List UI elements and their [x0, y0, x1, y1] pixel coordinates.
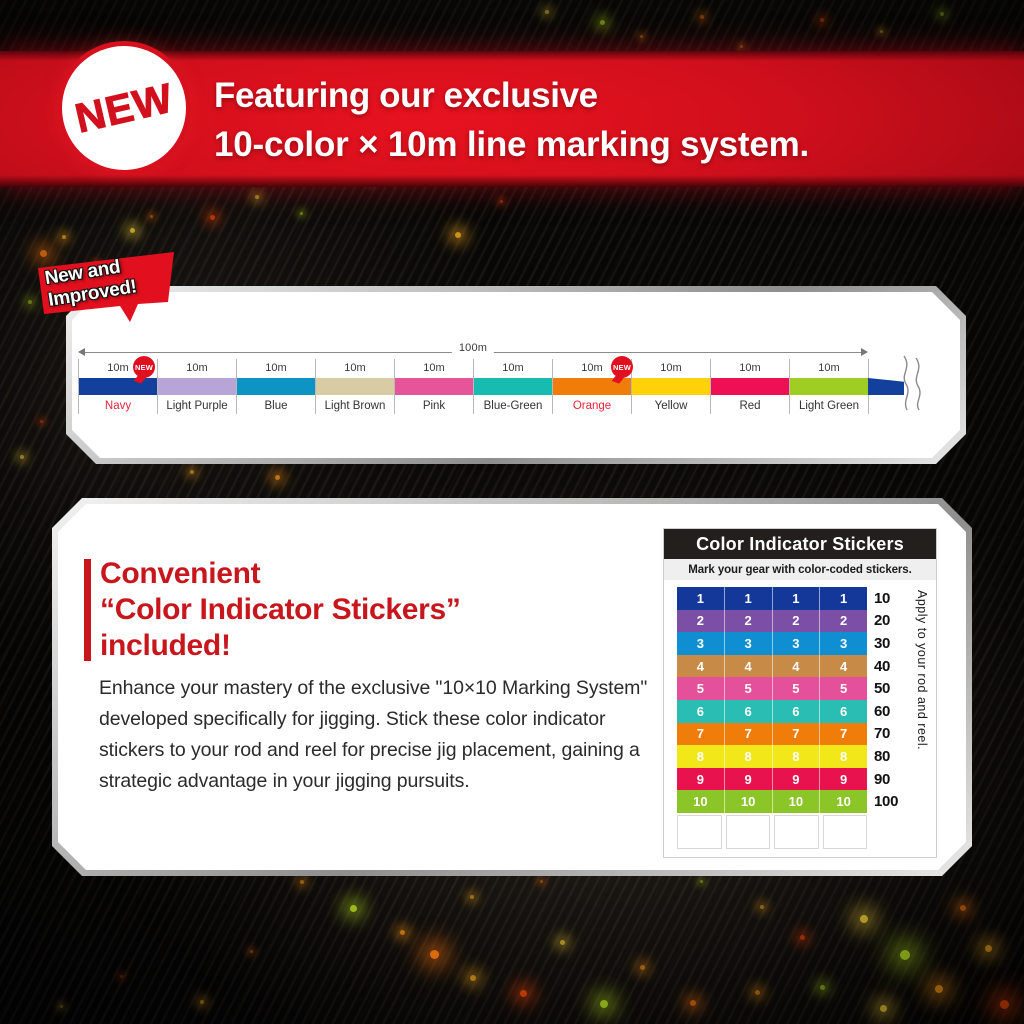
- poster-canvas: Featuring our exclusive 10-color × 10m l…: [0, 0, 1024, 1024]
- sticker-cell: 1: [725, 587, 773, 610]
- sticker-cell: 7: [677, 723, 725, 746]
- sticker-cell: 4: [725, 655, 773, 678]
- sticker-cell: 2: [725, 610, 773, 633]
- headline-line3: included!: [100, 628, 660, 664]
- line-wave-icon: [896, 354, 930, 412]
- sticker-cell: 2: [677, 610, 725, 633]
- sticker-cell: 8: [725, 745, 773, 768]
- line-segment: 10mPink: [394, 359, 473, 414]
- segment-length: 10m: [158, 359, 236, 378]
- sticker-cell: 10: [773, 790, 821, 813]
- segment-name: Orange: [553, 395, 631, 414]
- segment-length: 10m: [395, 359, 473, 378]
- sticker-cell: 3: [677, 632, 725, 655]
- color-indicator-stickers-card: Color Indicator Stickers Mark your gear …: [663, 528, 937, 858]
- dimension-arrow-right-icon: [861, 348, 868, 356]
- stickers-grid: 1111222233334444555566667777888899991010…: [677, 587, 867, 813]
- sticker-blank-cell: [774, 815, 819, 849]
- sticker-cell: 3: [820, 632, 867, 655]
- segment-color-bar: [237, 378, 315, 395]
- sticker-cell: 1: [820, 587, 867, 610]
- sticker-blank-cell: [677, 815, 722, 849]
- sticker-scale-value: 60: [874, 700, 913, 723]
- line-segment: 10mRed: [710, 359, 789, 414]
- sticker-cell: 7: [773, 723, 821, 746]
- segment-name: Blue-Green: [474, 395, 552, 414]
- segment-name: Light Brown: [316, 395, 394, 414]
- line-segment: 10mLight Green: [789, 359, 868, 414]
- line-segment: 10mNEWNavy: [78, 359, 157, 414]
- sticker-cell: 10: [725, 790, 773, 813]
- line-segment: 10mLight Brown: [315, 359, 394, 414]
- segment-color-bar: [711, 378, 789, 395]
- sticker-row: 10101010: [677, 790, 867, 813]
- segment-color-bar: [79, 378, 157, 395]
- sticker-cell: 4: [820, 655, 867, 678]
- line-segment: 10mBlue-Green: [473, 359, 552, 414]
- sticker-row: 9999: [677, 768, 867, 791]
- segment-color-bar: [395, 378, 473, 395]
- sticker-scale-value: 70: [874, 723, 913, 746]
- sticker-row: 4444: [677, 655, 867, 678]
- segment-name: Light Purple: [158, 395, 236, 414]
- sticker-row: 7777: [677, 723, 867, 746]
- segment-color-bar: [632, 378, 710, 395]
- new-badge-circle: NEW: [62, 46, 186, 170]
- total-length-label: 100m: [452, 342, 494, 354]
- segment-color-bar: [158, 378, 236, 395]
- headline-accent-bar: [84, 559, 91, 661]
- sticker-row: 3333: [677, 632, 867, 655]
- segment-color-bar: [316, 378, 394, 395]
- segment-length: 10mNEW: [553, 359, 631, 378]
- sticker-cell: 4: [677, 655, 725, 678]
- line-segment: 10mBlue: [236, 359, 315, 414]
- segment-color-bar: [790, 378, 868, 395]
- headline-line1: Convenient: [100, 556, 660, 592]
- banner-bottom-shade: [0, 175, 1024, 187]
- sticker-cell: 9: [725, 768, 773, 791]
- segment-color-bar: [474, 378, 552, 395]
- sticker-scale-value: 10: [874, 587, 913, 610]
- segment-length: 10mNEW: [79, 359, 157, 378]
- sticker-cell: 10: [820, 790, 867, 813]
- info-headline: Convenient “Color Indicator Stickers” in…: [100, 556, 660, 664]
- banner-headline-line2: 10-color × 10m line marking system.: [214, 120, 809, 169]
- line-marking-diagram: 100m 10mNEWNavy10mLight Purple10mBlue10m…: [78, 346, 950, 416]
- sticker-cell: 1: [677, 587, 725, 610]
- sticker-scale-value: 30: [874, 632, 913, 655]
- sticker-cell: 6: [677, 700, 725, 723]
- segment-length: 10m: [237, 359, 315, 378]
- line-segment: 10mLight Purple: [157, 359, 236, 414]
- segment-name: Red: [711, 395, 789, 414]
- sticker-cell: 6: [773, 700, 821, 723]
- sticker-cell: 9: [820, 768, 867, 791]
- sticker-row: 8888: [677, 745, 867, 768]
- sticker-cell: 5: [773, 677, 821, 700]
- dimension-arrow-left-icon: [78, 348, 85, 356]
- segment-length: 10m: [790, 359, 868, 378]
- sticker-scale-value: 20: [874, 610, 913, 633]
- new-and-improved-flag: New and Improved!: [34, 252, 180, 322]
- stickers-subtitle: Mark your gear with color-coded stickers…: [664, 559, 936, 580]
- sticker-cell: 4: [773, 655, 821, 678]
- line-segment: 10mYellow: [631, 359, 710, 414]
- sticker-cell: 8: [773, 745, 821, 768]
- sticker-cell: 2: [773, 610, 821, 633]
- sticker-cell: 5: [677, 677, 725, 700]
- sticker-cell: 7: [820, 723, 867, 746]
- sticker-scale-value: 40: [874, 655, 913, 678]
- new-badge-label: NEW: [71, 74, 178, 142]
- sticker-cell: 1: [773, 587, 821, 610]
- sticker-row: 1111: [677, 587, 867, 610]
- sticker-cell: 7: [725, 723, 773, 746]
- sticker-blank-cell: [823, 815, 868, 849]
- segment-name: Light Green: [790, 395, 868, 414]
- sticker-cell: 9: [773, 768, 821, 791]
- sticker-cell: 3: [773, 632, 821, 655]
- segment-name: Yellow: [632, 395, 710, 414]
- sticker-scale-value: 90: [874, 768, 913, 791]
- sticker-scale-value: 50: [874, 677, 913, 700]
- segment-name: Pink: [395, 395, 473, 414]
- stickers-side-note: Apply to your rod and reel.: [915, 590, 929, 790]
- sticker-cell: 2: [820, 610, 867, 633]
- segment-name: Blue: [237, 395, 315, 414]
- segment-length: 10m: [316, 359, 394, 378]
- sticker-cell: 10: [677, 790, 725, 813]
- banner-headline: Featuring our exclusive 10-color × 10m l…: [214, 71, 809, 169]
- segment-length: 10m: [711, 359, 789, 378]
- sticker-cell: 5: [820, 677, 867, 700]
- segment-new-badge: NEW: [611, 356, 633, 378]
- line-segment: 10mNEWOrange: [552, 359, 631, 414]
- segment-length: 10m: [474, 359, 552, 378]
- sticker-row: 5555: [677, 677, 867, 700]
- info-body-text: Enhance your mastery of the exclusive "1…: [99, 673, 659, 797]
- stickers-scale-column: 102030405060708090100: [867, 587, 913, 813]
- sticker-cell: 5: [725, 677, 773, 700]
- sticker-cell: 9: [677, 768, 725, 791]
- sticker-blank-cell: [726, 815, 771, 849]
- sticker-cell: 6: [820, 700, 867, 723]
- sticker-cell: 3: [725, 632, 773, 655]
- segment-new-badge: NEW: [133, 356, 155, 378]
- total-length-dimension: 100m: [78, 346, 868, 359]
- banner-headline-line1: Featuring our exclusive: [214, 71, 809, 120]
- segment-name: Navy: [79, 395, 157, 414]
- segment-table: 10mNEWNavy10mLight Purple10mBlue10mLight…: [78, 359, 868, 414]
- headline-line2: “Color Indicator Stickers”: [100, 592, 660, 628]
- sticker-cell: 8: [677, 745, 725, 768]
- segment-length: 10m: [632, 359, 710, 378]
- stickers-body: 1111222233334444555566667777888899991010…: [664, 580, 936, 813]
- sticker-cell: 6: [725, 700, 773, 723]
- sticker-row: 6666: [677, 700, 867, 723]
- sticker-cell: 8: [820, 745, 867, 768]
- sticker-row: 2222: [677, 610, 867, 633]
- sticker-scale-value: 100: [874, 790, 913, 813]
- sticker-scale-value: 80: [874, 745, 913, 768]
- stickers-title: Color Indicator Stickers: [664, 529, 936, 559]
- stickers-blank-row: [677, 815, 867, 849]
